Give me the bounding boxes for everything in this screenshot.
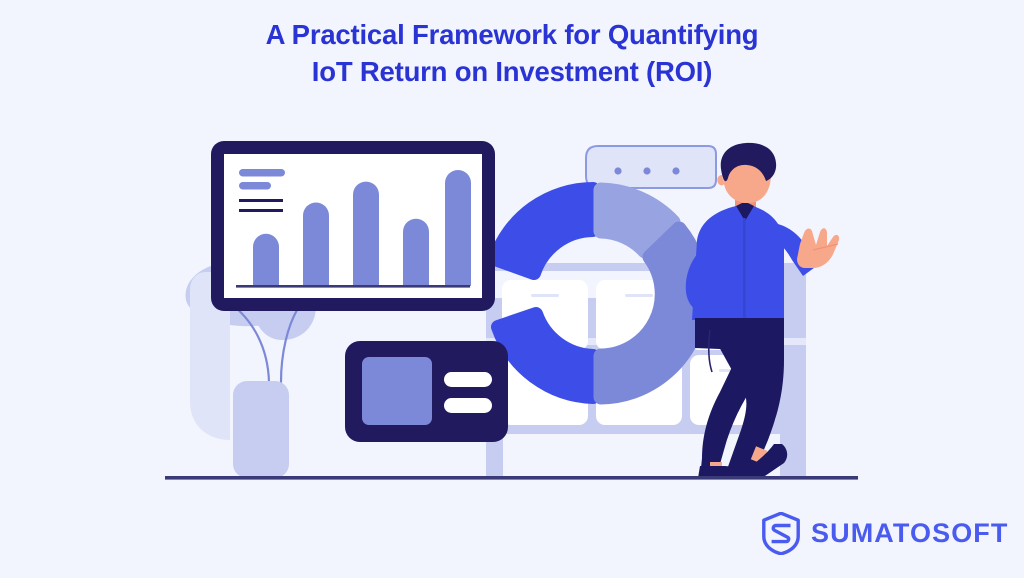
sumatosoft-logo[interactable]: SUMATOSOFT — [762, 512, 1009, 555]
ground-line — [165, 476, 858, 480]
person-shirt-placket — [743, 218, 746, 318]
plant-pot — [233, 381, 289, 478]
poster-canvas: A Practical Framework for Quantifying Io… — [0, 0, 1024, 578]
page-title: A Practical Framework for Quantifying Io… — [0, 16, 1024, 90]
bar-chart-bar — [445, 170, 471, 286]
chart-legend-line — [239, 199, 283, 202]
device-card-line — [444, 372, 492, 387]
iot-device-card — [345, 341, 508, 442]
chart-legend-line — [239, 169, 285, 177]
chart-baseline — [236, 285, 470, 288]
bar-chart-bar-foot — [353, 273, 379, 286]
bar-chart-bar-foot — [303, 273, 329, 286]
bubble-dot — [672, 167, 679, 174]
dashboard-monitor — [211, 141, 495, 311]
bubble-dot — [614, 167, 621, 174]
bar-chart-bar-foot — [253, 273, 279, 286]
page-title-line-2: IoT Return on Investment (ROI) — [0, 53, 1024, 90]
device-card-thumbnail — [362, 357, 432, 425]
bubble-dot — [643, 167, 650, 174]
chart-legend-line — [239, 209, 283, 212]
logo-brand-name: SUMATOSOFT — [811, 520, 1009, 547]
device-card-line — [444, 398, 492, 413]
bar-chart-bar — [353, 182, 379, 286]
page-title-line-1: A Practical Framework for Quantifying — [0, 16, 1024, 53]
person-shirt — [692, 206, 784, 320]
shield-s-logo-icon — [762, 512, 800, 555]
bar-chart-bar-foot — [403, 273, 429, 286]
bar-chart-bar-foot — [445, 273, 471, 286]
chart-legend-line — [239, 182, 271, 190]
